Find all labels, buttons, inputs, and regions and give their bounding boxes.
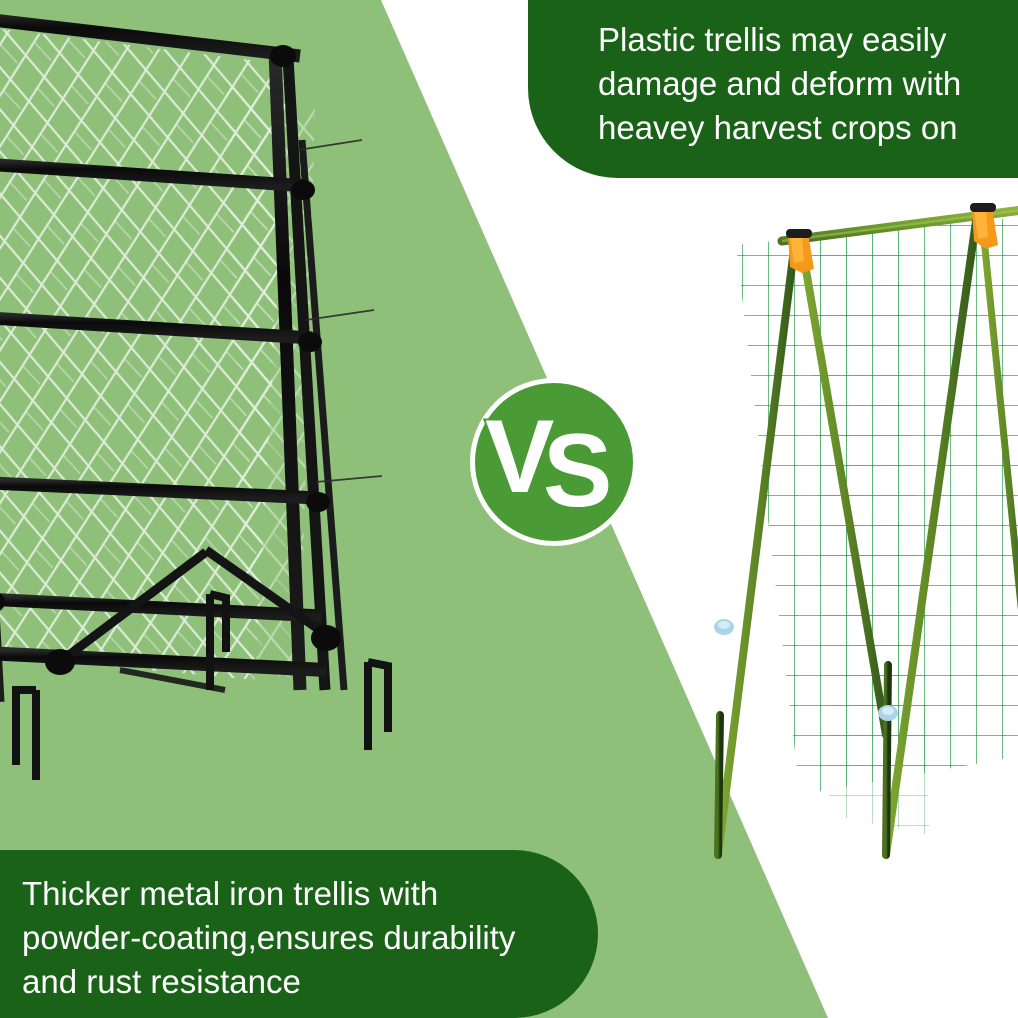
comparison-infographic: S V Plastic trellis may easily damage an… bbox=[0, 0, 1018, 1018]
left-netting bbox=[0, 20, 315, 680]
vs-badge-text: S V bbox=[475, 383, 633, 541]
banner-top-line-2: damage and deform with bbox=[598, 62, 1002, 106]
banner-bottom-line-2: powder-coating,ensures durability bbox=[22, 916, 528, 960]
right-product-image-plastic-trellis bbox=[690, 195, 1018, 855]
banner-plastic-trellis-drawback: Plastic trellis may easily damage and de… bbox=[528, 0, 1018, 178]
vs-letter-s: S bbox=[543, 419, 612, 523]
banner-bottom-line-1: Thicker metal iron trellis with bbox=[22, 872, 528, 916]
vs-badge: S V bbox=[470, 378, 638, 546]
left-product-image-metal-trellis bbox=[0, 0, 440, 790]
vs-letter-v: V bbox=[485, 405, 548, 509]
banner-top-line-1: Plastic trellis may easily bbox=[598, 18, 1002, 62]
banner-top-line-3: heavey harvest crops on bbox=[598, 106, 1002, 150]
banner-bottom-line-3: and rust resistance bbox=[22, 960, 528, 1004]
right-netting bbox=[736, 217, 1018, 835]
banner-metal-trellis-benefit: Thicker metal iron trellis with powder-c… bbox=[0, 850, 598, 1018]
